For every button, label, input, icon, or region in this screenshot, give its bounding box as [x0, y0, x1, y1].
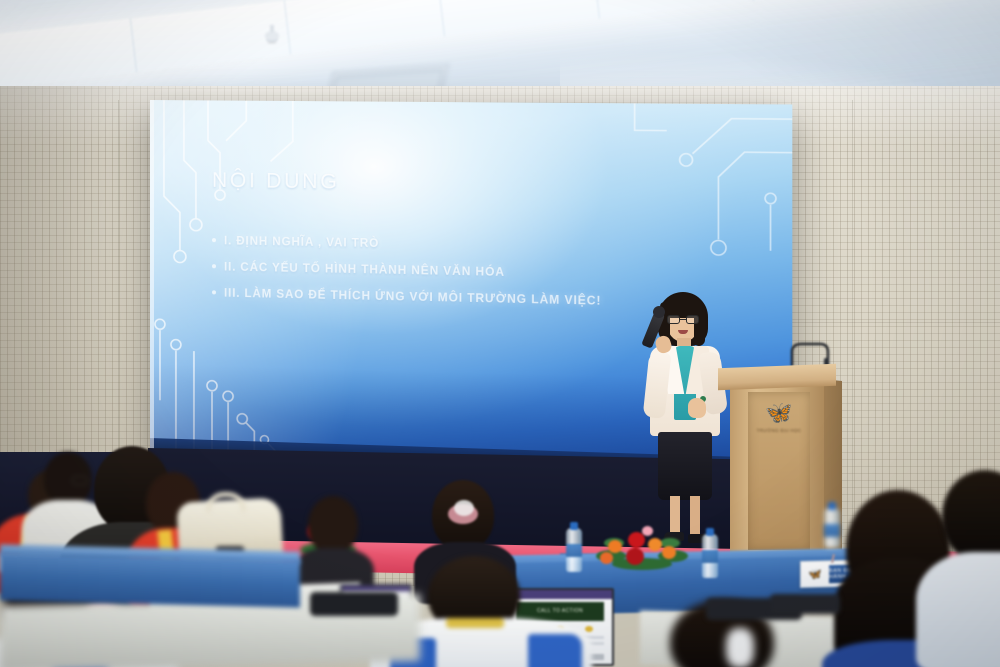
bird-logo-icon: 🦋 [756, 400, 802, 426]
audience-member-foreground [938, 470, 1000, 667]
water-bottle [702, 534, 718, 578]
podium-logo-text: TRƯỜNG ĐẠI HỌC [748, 428, 810, 433]
screen-left-edge [150, 100, 154, 456]
side-table-cloth [0, 552, 300, 607]
hair-accessory [454, 500, 474, 516]
presenter-skirt [658, 432, 712, 500]
eyeglasses-icon [667, 315, 699, 324]
smoke-detector-icon [265, 31, 279, 40]
flower-arrangement [596, 524, 688, 572]
conference-photo: NỘI DUNG I. ĐỊNH NGHĨA , VAI TRÒ II. CÁC… [0, 0, 1000, 667]
bird-logo-icon: 🦋 [801, 561, 829, 587]
rose-bloom [662, 546, 676, 559]
podium-top-surface [718, 364, 836, 391]
presenter-leg-right [690, 496, 700, 536]
rose-bloom [648, 538, 662, 551]
audience-torso [916, 552, 1000, 667]
chair-back [310, 592, 398, 616]
audience-head [308, 496, 358, 554]
rose-bloom [628, 532, 645, 548]
rose-bloom [600, 552, 613, 564]
audience-member [302, 496, 364, 586]
audience-head [942, 470, 1000, 562]
laptop-slide-icon [585, 626, 593, 633]
lens-right [686, 315, 699, 324]
chair-back [770, 594, 840, 614]
presenter-hand-gesturing [688, 398, 706, 418]
lanyard [446, 618, 504, 628]
uniform-sleeve [528, 634, 582, 667]
lens-left [667, 315, 680, 324]
hair-accessory [726, 628, 754, 667]
rose-bloom [626, 548, 644, 565]
flower-bloom-pink [642, 526, 653, 536]
rose-bloom [608, 540, 622, 553]
